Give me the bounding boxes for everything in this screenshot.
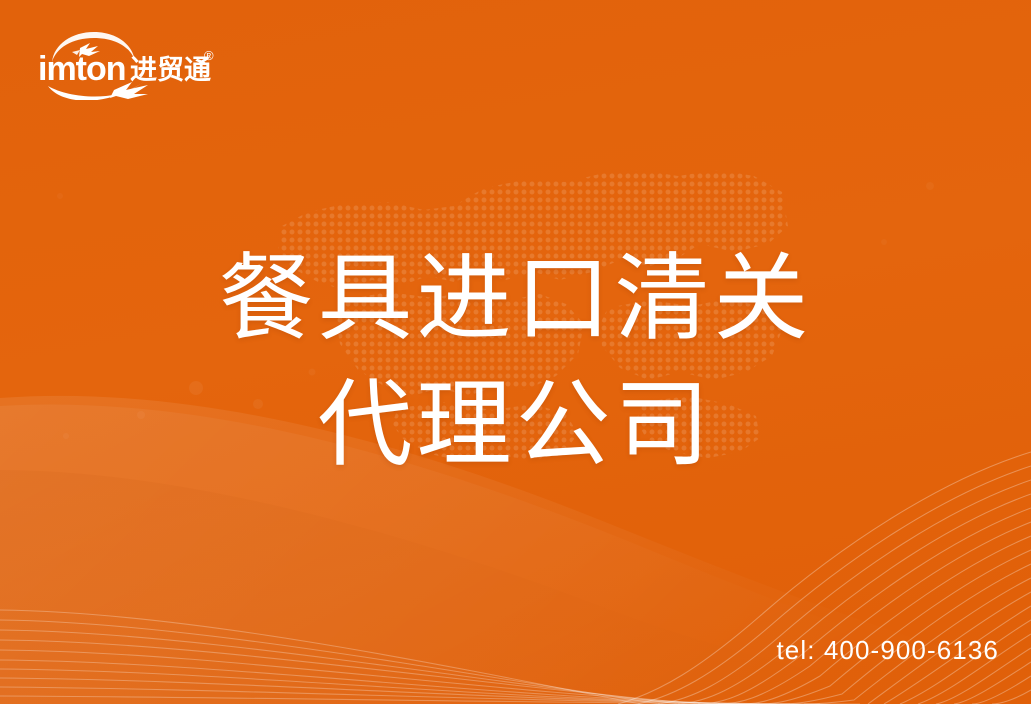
headline: 餐具进口清关 代理公司 (0, 236, 1031, 488)
logo-chinese-name: 进贸通 (130, 55, 211, 85)
headline-line-1: 餐具进口清关 (0, 236, 1031, 362)
contact-phone[interactable]: tel: 400-900-6136 (776, 635, 999, 666)
logo-wordmark: imton (38, 50, 126, 88)
headline-line-2: 代理公司 (0, 362, 1031, 488)
registered-trademark-icon: ® (204, 48, 214, 63)
promotional-banner: imton 进贸通 ® 餐具进口清关 代理公司 tel: 400-900-613… (0, 0, 1031, 704)
company-logo[interactable]: imton 进贸通 ® (36, 28, 216, 100)
